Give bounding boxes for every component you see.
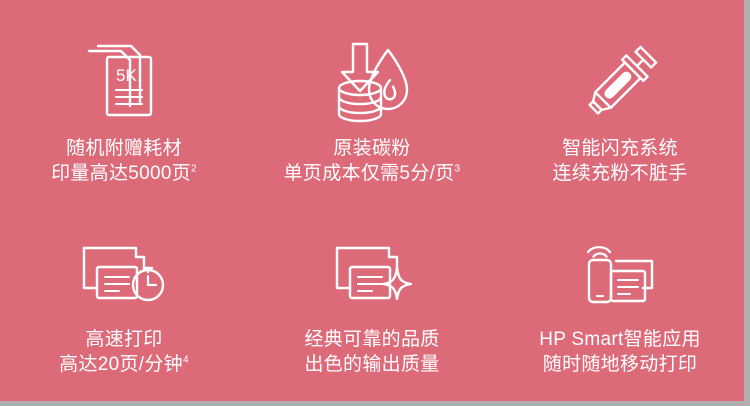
page-bottom-edge	[0, 401, 750, 406]
feature-item-hp-smart: HP Smart智能应用 随时随地移动打印	[496, 201, 744, 402]
feature-line-1: 智能闪充系统	[552, 136, 687, 161]
feature-line-2: 单页成本仅需5分/页3	[284, 161, 461, 186]
feature-grid: 5K 随机附赠耗材 印量高达5000页2	[0, 0, 744, 401]
feature-line-1: 经典可靠的品质	[304, 327, 439, 352]
feature-text-print-quality: 经典可靠的品质 出色的输出质量	[304, 327, 439, 377]
pages-count-label: 5K	[116, 66, 137, 85]
feature-line-1: 高速打印	[59, 327, 189, 352]
feature-item-print-speed: 高速打印 高达20页/分钟4	[0, 201, 248, 402]
stacked-pages-5k-icon: 5K	[86, 40, 162, 126]
feature-line-2: 随时随地移动打印	[539, 352, 701, 377]
promo-banner: 5K 随机附赠耗材 印量高达5000页2	[0, 0, 744, 401]
feature-line-1: 原装碳粉	[284, 136, 461, 161]
printer-stopwatch-icon	[81, 231, 167, 317]
feature-line-2: 出色的输出质量	[304, 352, 439, 377]
feature-item-toner-cost: 原装碳粉 单页成本仅需5分/页3	[248, 0, 496, 201]
feature-text-hp-smart: HP Smart智能应用 随时随地移动打印	[539, 327, 701, 377]
feature-item-supplies: 5K 随机附赠耗材 印量高达5000页2	[0, 0, 248, 201]
feature-item-print-quality: 经典可靠的品质 出色的输出质量	[248, 201, 496, 402]
feature-item-smart-refill: 智能闪充系统 连续充粉不脏手	[496, 0, 744, 201]
feature-line-2: 高达20页/分钟4	[59, 352, 189, 377]
feature-line-2: 印量高达5000页2	[51, 161, 197, 186]
feature-text-smart-refill: 智能闪充系统 连续充粉不脏手	[552, 136, 687, 186]
feature-text-toner-cost: 原装碳粉 单页成本仅需5分/页3	[284, 136, 461, 186]
syringe-refill-icon	[579, 40, 661, 126]
feature-line-2: 连续充粉不脏手	[552, 161, 687, 186]
footnote-marker: 4	[183, 354, 189, 365]
page-right-edge	[744, 0, 750, 401]
footnote-marker: 2	[191, 164, 197, 175]
toner-drop-coins-icon	[330, 40, 414, 126]
feature-line-1: 随机附赠耗材	[51, 136, 197, 161]
footnote-marker: 3	[454, 164, 460, 175]
printer-sparkle-icon	[329, 231, 415, 317]
feature-text-print-speed: 高速打印 高达20页/分钟4	[59, 327, 189, 377]
feature-line-1: HP Smart智能应用	[539, 327, 701, 352]
feature-text-supplies: 随机附赠耗材 印量高达5000页2	[51, 136, 197, 186]
mobile-wireless-print-icon	[576, 231, 664, 317]
